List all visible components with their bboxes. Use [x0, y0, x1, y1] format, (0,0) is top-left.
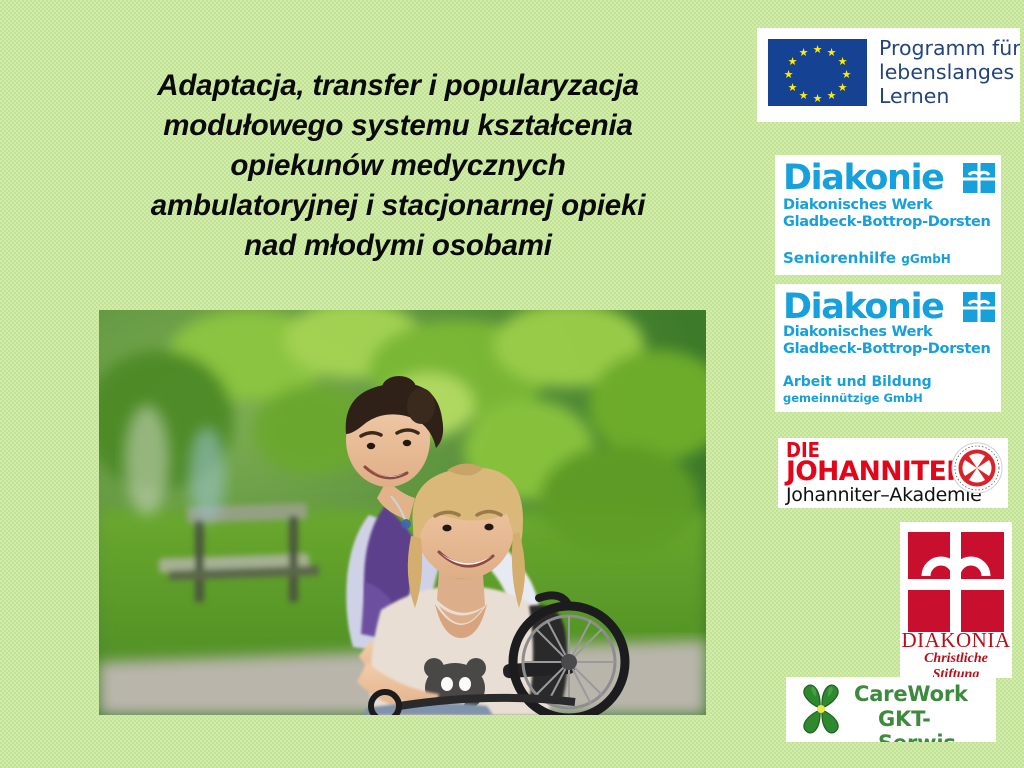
diakonie-unit-name: Seniorenhilfe: [783, 249, 896, 267]
logo-johanniter-akademie: DIE JOHANNITER Johanniter–Akademie: [778, 438, 1008, 508]
four-leaf-clover-icon: [792, 681, 850, 738]
photo-caregiver-and-wheelchair-user: [99, 310, 706, 715]
eu-text-line-2: lebenslanges: [879, 60, 1020, 84]
eu-text-line-3: Lernen: [879, 84, 1020, 108]
diakonie-crown-cross-icon: [963, 163, 995, 193]
diakonia-tagline: Christliche Stiftung: [900, 651, 1012, 678]
title-line-5: nad młodymi osobami: [62, 226, 734, 266]
diakonie-unit-name: Arbeit und Bildung: [783, 374, 932, 390]
johanniter-wordmark: JOHANNITER: [786, 458, 966, 486]
diakonie-subtitle-line-2: Gladbeck-Bottrop-Dorsten: [783, 341, 991, 358]
diakonie-subtitle: Diakonisches Werk Gladbeck-Bottrop-Dorst…: [783, 324, 991, 358]
diakonie-subtitle: Diakonisches Werk Gladbeck-Bottrop-Dorst…: [783, 197, 991, 231]
title-line-3: opiekunów medycznych: [62, 146, 734, 186]
diakonie-subtitle-line-2: Gladbeck-Bottrop-Dorsten: [783, 214, 991, 231]
diakonia-crown-cross-icon: [908, 532, 1004, 632]
diakonie-unit-suffix: gGmbH: [901, 252, 951, 266]
carework-subname: GKT-Serwis: [878, 707, 996, 742]
logo-carework-gkt-serwis: CareWork GKT-Serwis: [786, 677, 996, 742]
logo-diakonia-christliche-stiftung: DIAKONIA Christliche Stiftung: [900, 522, 1012, 678]
title-line-4: ambulatoryjnej i stacjonarnej opieki: [62, 186, 734, 226]
logo-eu-lifelong-learning: ★ ★ ★ ★ ★ ★ ★ ★ ★ ★ ★ ★ Programm für leb…: [757, 28, 1020, 122]
diakonie-unit-suffix: gemeinnützige GmbH: [783, 390, 932, 406]
presentation-slide: Adaptacja, transfer i popularyzacja modu…: [0, 0, 1024, 768]
diakonie-unit: Arbeit und Bildung gemeinnützige GmbH: [783, 374, 932, 406]
title-line-2: modułowego systemu kształcenia: [62, 106, 734, 146]
diakonia-wordmark: DIAKONIA: [900, 629, 1012, 651]
diakonie-subtitle-line-1: Diakonisches Werk: [783, 197, 991, 214]
diakonie-subtitle-line-1: Diakonisches Werk: [783, 324, 991, 341]
johanniter-maltese-cross-seal-icon: [951, 442, 1003, 494]
diakonie-unit: Seniorenhilfe gGmbH: [783, 249, 951, 267]
photo-illustration: [99, 310, 706, 715]
diakonie-wordmark: Diakonie: [783, 159, 944, 197]
carework-wordmark: CareWork: [854, 682, 968, 706]
eu-text-line-1: Programm für: [879, 36, 1020, 60]
logo-diakonie-seniorenhilfe: Diakonie Diakonisches Werk Gladbeck-Bott…: [775, 155, 1001, 275]
logo-diakonie-arbeit-und-bildung: Diakonie Diakonisches Werk Gladbeck-Bott…: [775, 284, 1001, 412]
diakonie-wordmark: Diakonie: [783, 288, 944, 326]
eu-logo-text: Programm für lebenslanges Lernen: [879, 36, 1020, 108]
diakonie-crown-cross-icon: [963, 292, 995, 322]
title-line-1: Adaptacja, transfer i popularyzacja: [62, 66, 734, 106]
eu-flag-icon: ★ ★ ★ ★ ★ ★ ★ ★ ★ ★ ★ ★: [768, 39, 867, 106]
page-title: Adaptacja, transfer i popularyzacja modu…: [62, 66, 734, 266]
